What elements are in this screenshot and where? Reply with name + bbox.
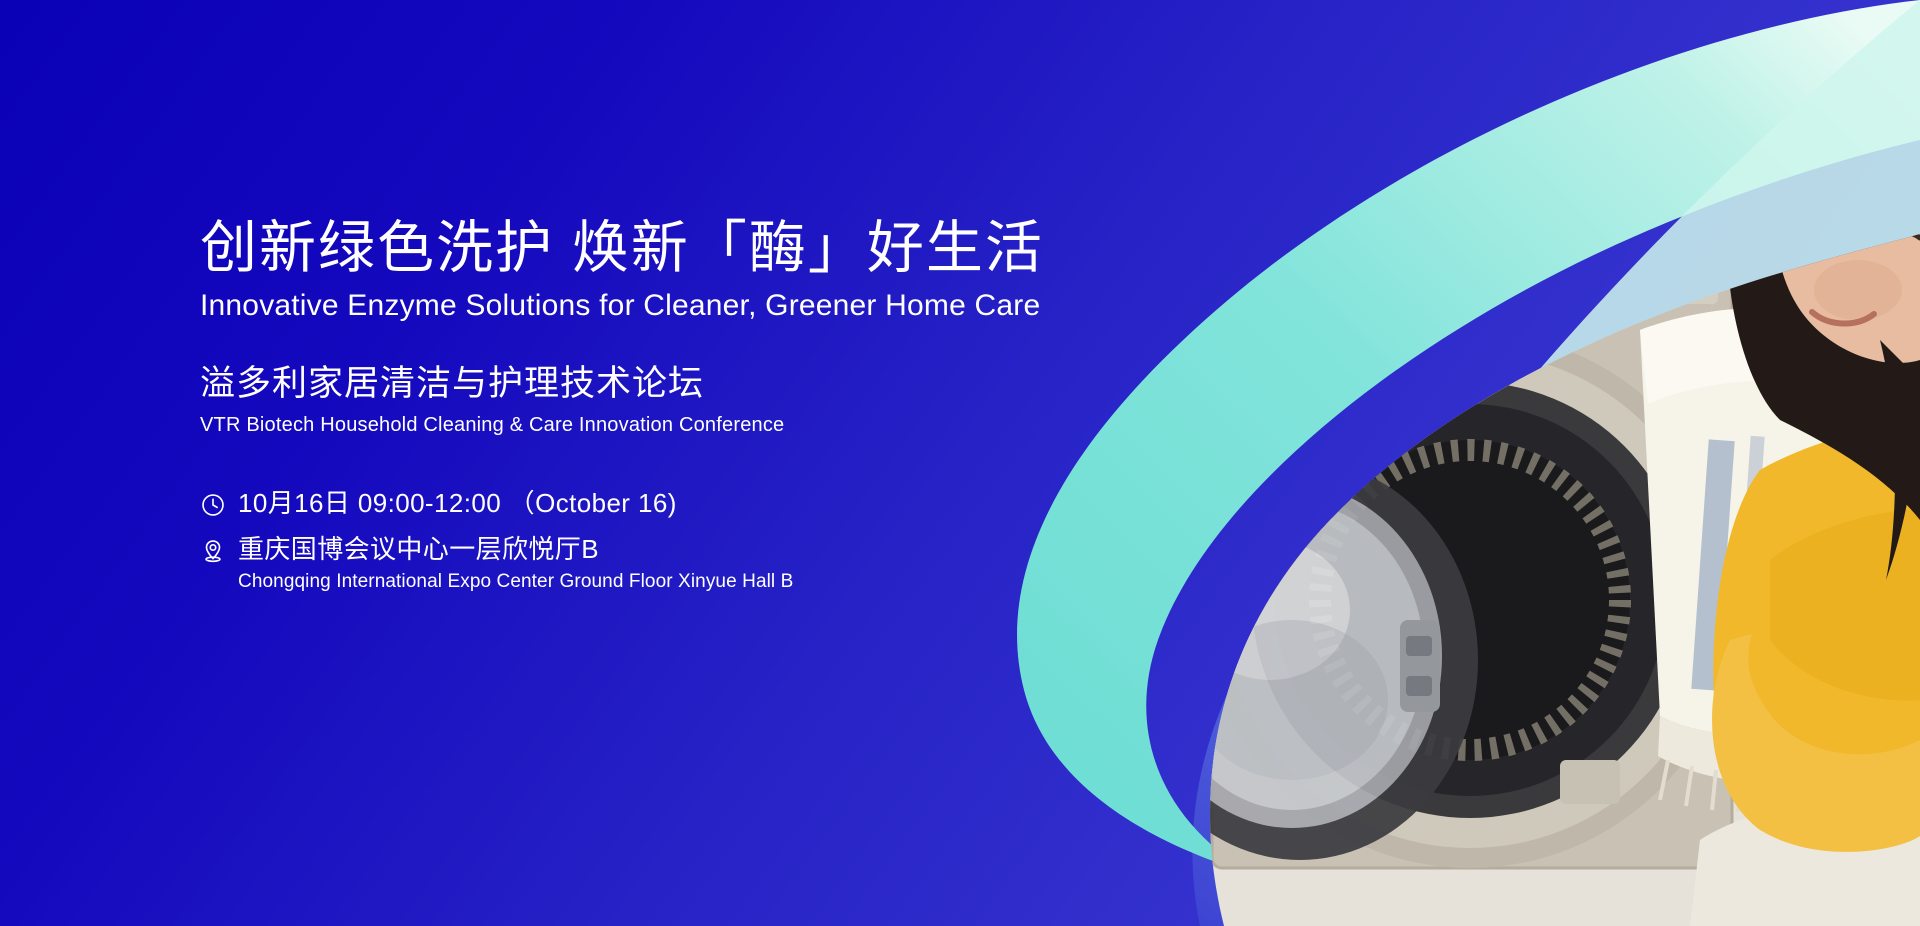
folded-towels: [1640, 308, 1900, 813]
event-datetime: 10月16日 09:00-12:00 （October 16): [238, 488, 677, 518]
banner-text-column: 创新绿色洗护 焕新「酶」好生活 Innovative Enzyme Soluti…: [200, 215, 1060, 606]
event-venue-english: Chongqing International Expo Center Grou…: [238, 569, 793, 595]
mint-top-fill: [1420, 0, 1920, 520]
page-title-english: Innovative Enzyme Solutions for Cleaner,…: [200, 288, 1060, 324]
detail-row-datetime: 10月16日 09:00-12:00 （October 16): [200, 486, 1060, 520]
light-blue-wedge-2: [1256, 330, 1920, 926]
photo-mask-edge: [1210, 234, 1920, 926]
page-title: 创新绿色洗护 焕新「酶」好生活: [200, 215, 1060, 282]
light-blue-wedge: [1192, 640, 1500, 926]
conference-banner: 创新绿色洗护 焕新「酶」好生活 Innovative Enzyme Soluti…: [0, 0, 1920, 926]
clock-icon: [200, 492, 226, 518]
location-pin-icon: [200, 538, 226, 564]
laundry-photo: [1122, 0, 1920, 926]
event-name-english: VTR Biotech Household Cleaning & Care In…: [200, 413, 1060, 438]
detail-row-venue: 重庆国博会议中心一层欣悦厅B Chongqing International E…: [200, 532, 1060, 594]
event-name: 溢多利家居清洁与护理技术论坛: [200, 362, 1060, 406]
event-details: 10月16日 09:00-12:00 （October 16) 重庆国博会议中心…: [200, 486, 1060, 594]
woman-figure: [1690, 89, 1920, 926]
event-venue: 重庆国博会议中心一层欣悦厅B: [238, 534, 599, 564]
mint-leaf-swoosh: [1017, 0, 1920, 874]
